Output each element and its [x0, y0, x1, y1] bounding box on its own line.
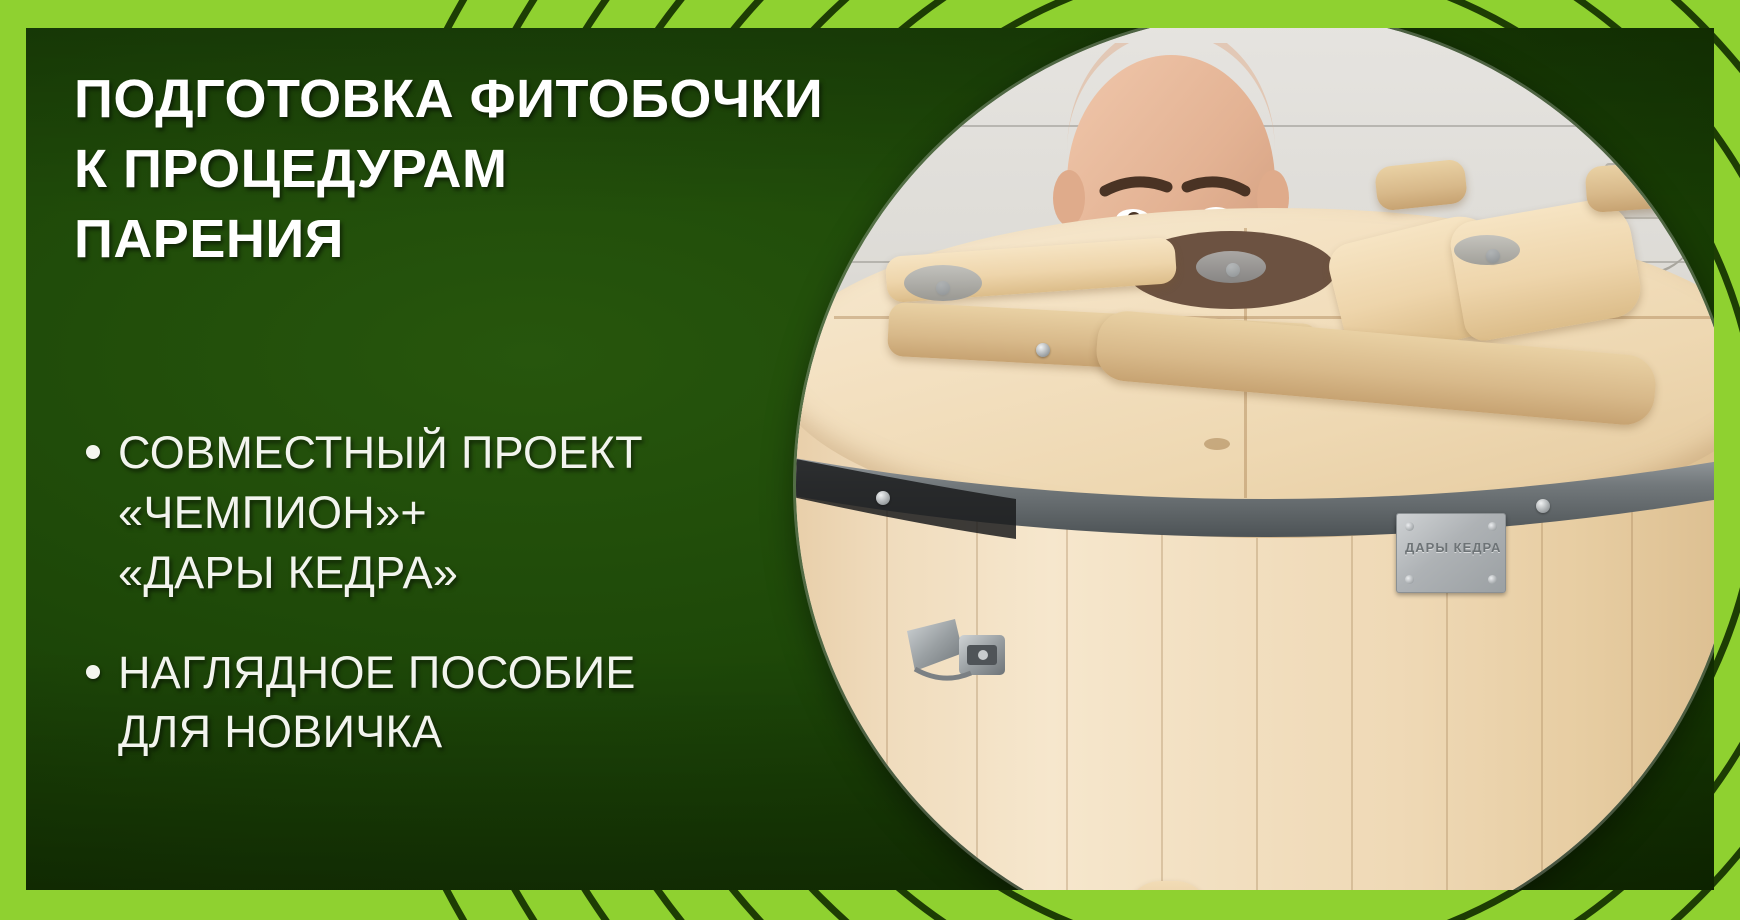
bullet-dot-icon — [86, 445, 100, 459]
photo-inner: Улыбающийся мужчина сидит в кедровой фит… — [796, 28, 1714, 890]
lid-hinge-plate — [1196, 251, 1266, 283]
list-item: СОВМЕСТНЫЙ ПРОЕКТ «ЧЕМПИОН»+ «ДАРЫ КЕДРА… — [74, 423, 914, 603]
bullet-2-line-2: ДЛЯ НОВИЧКА — [118, 702, 636, 762]
bullet-2-text: НАГЛЯДНОЕ ПОСОБИЕ ДЛЯ НОВИЧКА — [118, 643, 636, 763]
bullet-1-text: СОВМЕСТНЫЙ ПРОЕКТ «ЧЕМПИОН»+ «ДАРЫ КЕДРА… — [118, 423, 643, 603]
circular-photo: Улыбающийся мужчина сидит в кедровой фит… — [796, 28, 1714, 890]
barrel-latch — [901, 613, 1021, 693]
barrel-nameplate: ДАРЫ КЕДРА — [1396, 513, 1506, 593]
bullet-2-line-1: НАГЛЯДНОЕ ПОСОБИЕ — [118, 643, 636, 703]
content-panel: ПОДГОТОВКА ФИТОБОЧКИ К ПРОЦЕДУРАМ ПАРЕНИ… — [26, 28, 1714, 890]
lid-hinge-plate — [904, 265, 982, 301]
bullet-1-line-1: СОВМЕСТНЫЙ ПРОЕКТ — [118, 423, 643, 483]
lid-block-2 — [1585, 159, 1708, 213]
bullet-1-line-3: «ДАРЫ КЕДРА» — [118, 543, 643, 603]
lid-hinge-plate — [1454, 235, 1520, 265]
bullet-dot-icon — [86, 665, 100, 679]
barrel-metal-hoop — [796, 443, 1714, 561]
hoop-screw — [1536, 499, 1550, 513]
hoop-screw — [876, 491, 890, 505]
list-item: НАГЛЯДНОЕ ПОСОБИЕ ДЛЯ НОВИЧКА — [74, 643, 914, 763]
lid-screw — [1036, 343, 1050, 357]
nameplate-text: ДАРЫ КЕДРА — [1405, 540, 1501, 555]
bullet-list: СОВМЕСТНЫЙ ПРОЕКТ «ЧЕМПИОН»+ «ДАРЫ КЕДРА… — [74, 423, 914, 802]
slide-canvas: ПОДГОТОВКА ФИТОБОЧКИ К ПРОЦЕДУРАМ ПАРЕНИ… — [0, 0, 1740, 920]
bullet-1-line-2: «ЧЕМПИОН»+ — [118, 483, 643, 543]
